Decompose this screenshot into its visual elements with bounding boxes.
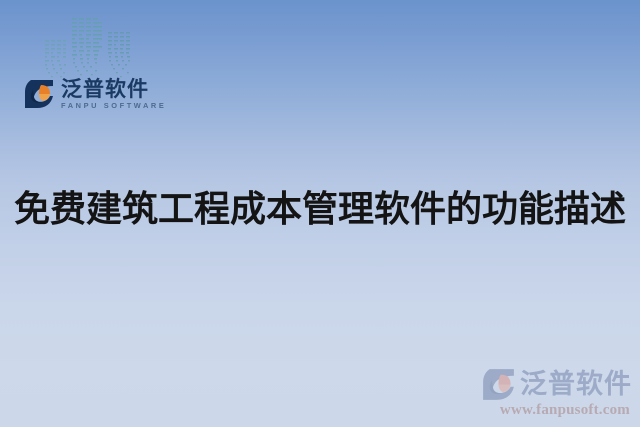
brand-name-cn: 泛普软件 xyxy=(61,78,166,100)
pixel-buildings-icon xyxy=(40,8,140,80)
promo-banner: 泛普软件 FANPU SOFTWARE 免费建筑工程成本管理软件的功能描述 泛普… xyxy=(0,0,640,427)
brand-wordmark: 泛普软件 FANPU SOFTWARE xyxy=(61,78,166,109)
brand-logo: 泛普软件 FANPU SOFTWARE xyxy=(24,78,166,109)
fanpu-hexagon-logo-icon xyxy=(482,368,515,401)
watermark-name-cn: 泛普软件 xyxy=(520,371,632,398)
watermark: 泛普软件 www.fanpusoft.com xyxy=(456,368,632,419)
watermark-logo: 泛普软件 xyxy=(482,368,632,401)
page-title: 免费建筑工程成本管理软件的功能描述 xyxy=(0,186,640,232)
watermark-url: www.fanpusoft.com xyxy=(500,402,630,419)
brand-name-en: FANPU SOFTWARE xyxy=(61,102,166,109)
fanpu-hexagon-logo-icon xyxy=(24,79,54,109)
